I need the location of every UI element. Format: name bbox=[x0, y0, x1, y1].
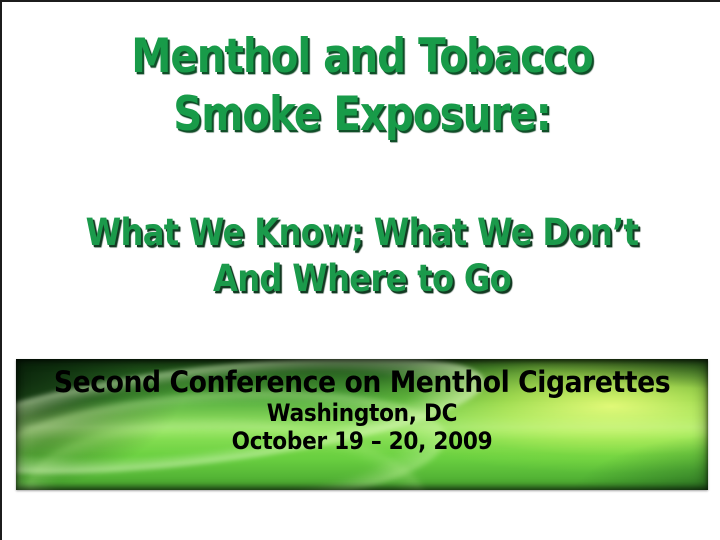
title-line-2: Smoke Exposure: bbox=[52, 86, 671, 144]
conference-dates: October 19 – 20, 2009 bbox=[51, 427, 674, 455]
presentation-slide: Menthol and Tobacco Smoke Exposure: What… bbox=[0, 0, 720, 540]
subtitle-line-2: And Where to Go bbox=[49, 256, 675, 302]
title-line-1: Menthol and Tobacco bbox=[52, 28, 671, 86]
slide-subtitle: What We Know; What We Don’t And Where to… bbox=[2, 210, 720, 302]
banner-text-block: Second Conference on Menthol Cigarettes … bbox=[16, 359, 708, 490]
conference-banner: Second Conference on Menthol Cigarettes … bbox=[16, 359, 708, 490]
conference-name: Second Conference on Menthol Cigarettes bbox=[44, 366, 681, 399]
conference-location: Washington, DC bbox=[51, 399, 674, 427]
slide-title: Menthol and Tobacco Smoke Exposure: bbox=[2, 28, 720, 144]
subtitle-line-1: What We Know; What We Don’t bbox=[49, 210, 675, 256]
